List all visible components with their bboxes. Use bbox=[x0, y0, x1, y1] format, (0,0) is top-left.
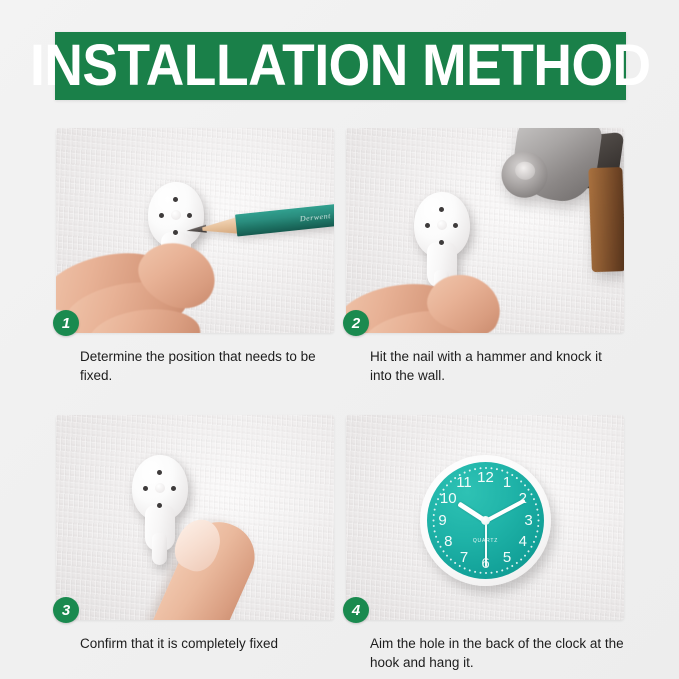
clock-numeral-12: 12 bbox=[476, 470, 496, 486]
step-badge-2: 2 bbox=[343, 310, 369, 336]
step-caption-2: Hit the nail with a hammer and knock it … bbox=[370, 347, 624, 385]
clock-numeral-1: 1 bbox=[497, 475, 517, 491]
step-card-4: 121234567891011 QUARTZ 4 Aim the hole in… bbox=[346, 415, 624, 672]
step-caption-3: Confirm that it is completely fixed bbox=[80, 634, 334, 653]
steps-row-top: Derwent 1 Determine the position that ne… bbox=[56, 128, 634, 385]
step-photo-3 bbox=[56, 415, 334, 620]
hand-icon bbox=[56, 250, 232, 333]
clock-numeral-9: 9 bbox=[433, 513, 453, 529]
step-badge-3: 3 bbox=[53, 597, 79, 623]
wall-clock-icon: 121234567891011 QUARTZ bbox=[420, 455, 551, 586]
step-caption-1: Determine the position that needs to be … bbox=[80, 347, 334, 385]
step-badge-4: 4 bbox=[343, 597, 369, 623]
clock-center-pin bbox=[481, 516, 490, 525]
step-photo-4: 121234567891011 QUARTZ bbox=[346, 415, 624, 620]
clock-numeral-10: 10 bbox=[438, 491, 458, 507]
step-card-1: Derwent 1 Determine the position that ne… bbox=[56, 128, 334, 385]
page-title-banner: INSTALLATION METHOD bbox=[55, 32, 626, 100]
clock-numeral-11: 11 bbox=[454, 475, 474, 491]
step-card-3: 3 Confirm that it is completely fixed bbox=[56, 415, 334, 672]
clock-numeral-7: 7 bbox=[454, 550, 474, 566]
page-title: INSTALLATION METHOD bbox=[30, 37, 651, 95]
step-caption-4: Aim the hole in the back of the clock at… bbox=[370, 634, 624, 672]
hand-icon bbox=[346, 276, 516, 333]
steps-grid: Derwent 1 Determine the position that ne… bbox=[56, 128, 634, 676]
step-photo-2 bbox=[346, 128, 624, 333]
step-card-2: 2 Hit the nail with a hammer and knock i… bbox=[346, 128, 624, 385]
clock-second-hand bbox=[485, 521, 487, 567]
clock-numeral-5: 5 bbox=[497, 550, 517, 566]
step-photo-1: Derwent bbox=[56, 128, 334, 333]
step-badge-1: 1 bbox=[53, 310, 79, 336]
steps-row-bottom: 3 Confirm that it is completely fixed 12… bbox=[56, 415, 634, 672]
clock-face: 121234567891011 QUARTZ bbox=[427, 462, 544, 579]
pencil-brand-text: Derwent bbox=[299, 206, 334, 224]
hammer-icon bbox=[484, 128, 624, 274]
clock-numeral-3: 3 bbox=[519, 513, 539, 529]
